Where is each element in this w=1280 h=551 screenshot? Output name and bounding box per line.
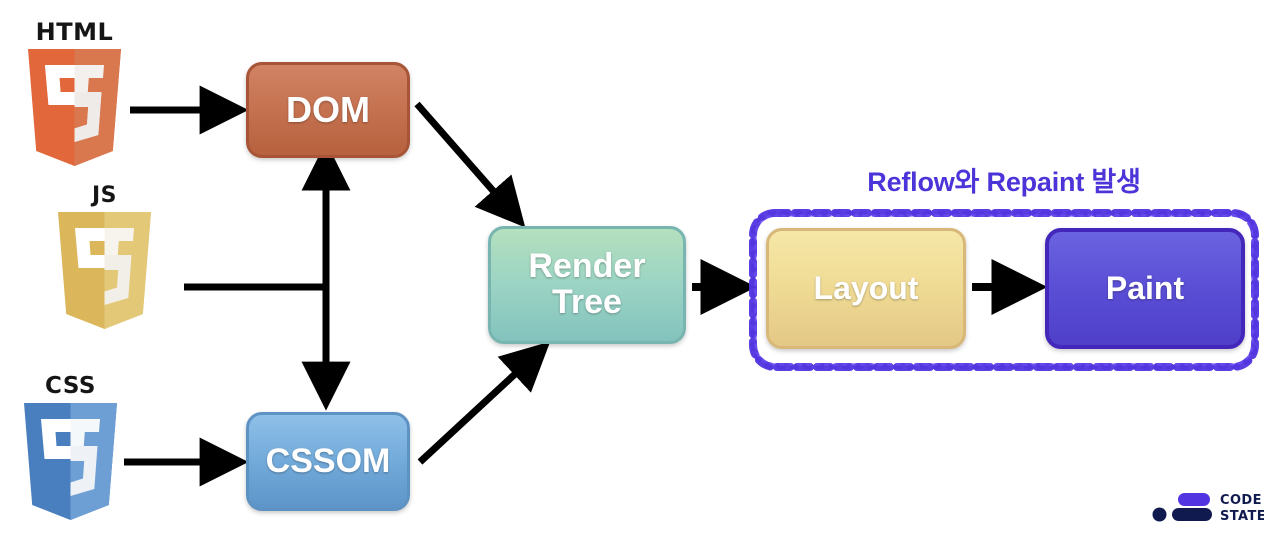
diagram-canvas: HTML JS CSS [0,0,1280,551]
box-cssom[interactable]: CSSOM [246,412,410,511]
box-render-tree-label-line2: Tree [552,285,622,321]
codestates-line2: STATES [1220,509,1264,524]
logo-css: CSS [18,375,123,523]
box-render-tree-label-line1: Render [528,249,645,285]
reflow-repaint-group: Reflow와 Repaint 발생 Layout Paint [748,160,1260,372]
box-dom[interactable]: DOM [246,62,410,158]
logo-css-label: CSS [18,375,123,398]
logo-html-label: HTML [22,20,127,44]
arrow-cssom-to-render-tree [420,350,541,462]
box-paint[interactable]: Paint [1045,228,1245,349]
logo-js: JS [52,185,157,332]
reflow-repaint-title: Reflow와 Repaint 발생 [748,160,1260,199]
box-paint-label: Paint [1106,272,1184,306]
box-render-tree[interactable]: Render Tree [488,226,686,344]
logo-js-label: JS [52,185,157,207]
css3-shield-icon [18,401,123,523]
box-cssom-label: CSSOM [266,444,391,480]
box-layout-label: Layout [814,272,919,306]
codestates-logo: CODE STATES [1152,489,1264,529]
html5-shield-icon [22,47,127,169]
logo-html: HTML [22,20,127,169]
js-shield-icon [52,210,157,332]
codestates-line1: CODE [1220,493,1262,508]
box-dom-label: DOM [286,91,370,129]
box-layout[interactable]: Layout [766,228,966,349]
arrow-dom-to-render-tree [417,104,517,218]
